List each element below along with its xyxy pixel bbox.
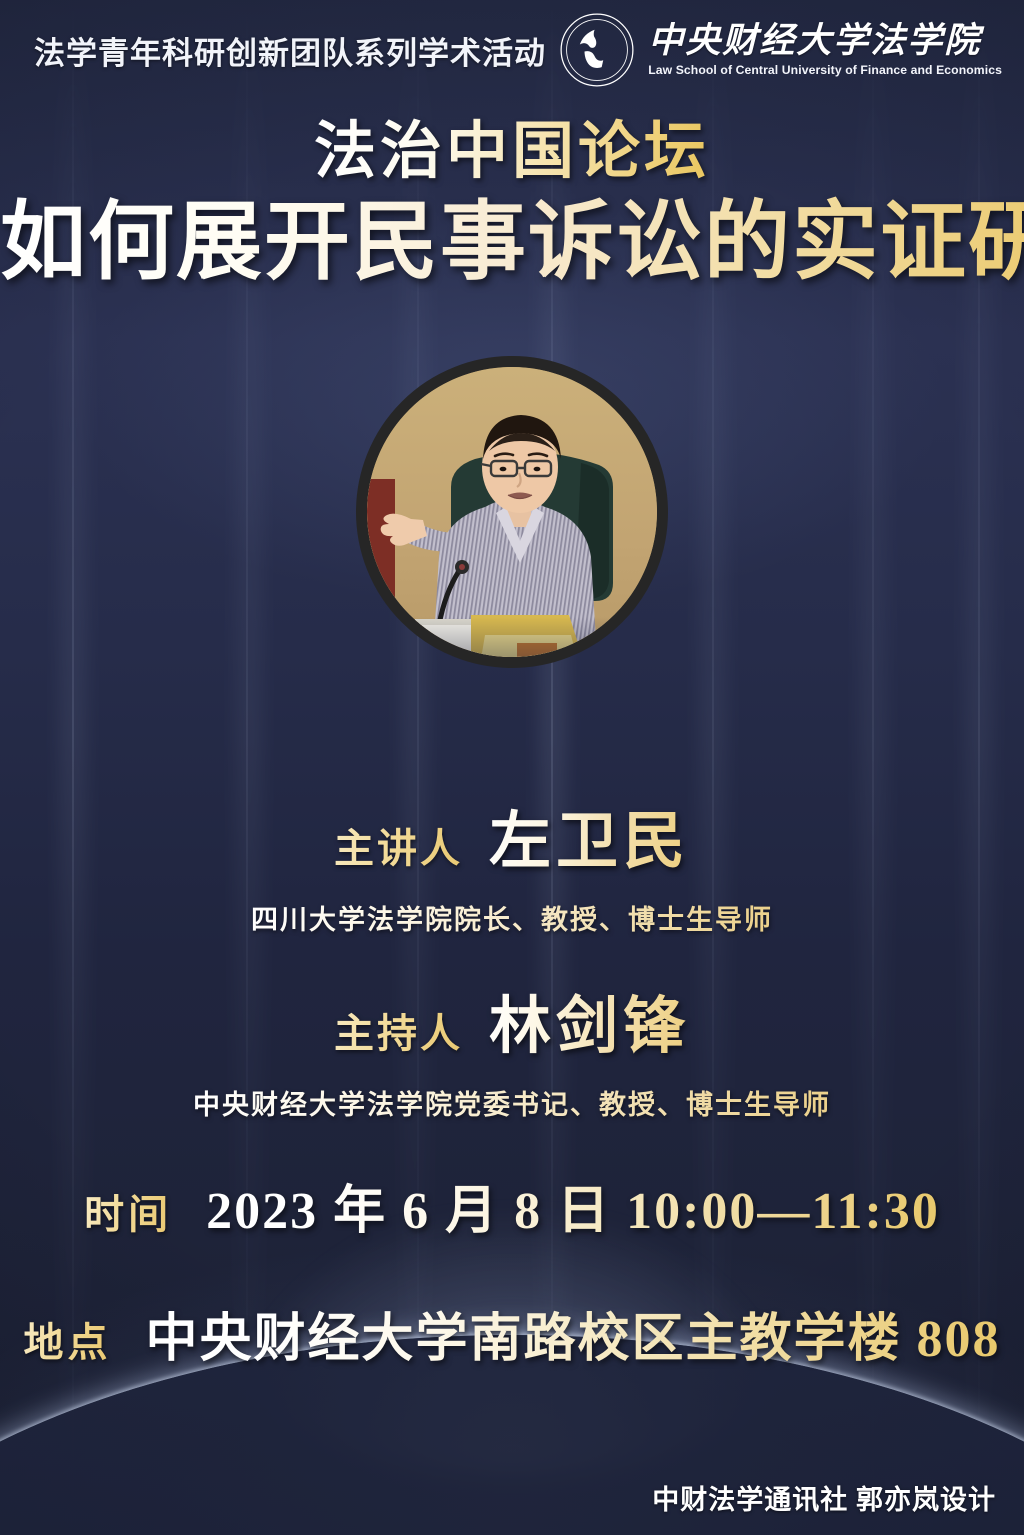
- speaker-description: 四川大学法学院院长、教授、博士生导师: [251, 898, 773, 937]
- speaker-name: 左卫民: [489, 790, 690, 880]
- venue-value: 中央财经大学南路校区主教学楼 808: [145, 1296, 1000, 1371]
- time-row: 时间 2023 年 6 月 8 日 10:00—11:30: [0, 1168, 1024, 1243]
- venue-row: 地点 中央财经大学南路校区主教学楼 808: [0, 1296, 1024, 1371]
- poster-header: 法学青年科研创新团队系列学术活动 中央财经大学法学院 Law School of…: [0, 0, 1024, 100]
- venue-label: 地点: [23, 1310, 111, 1368]
- time-label: 时间: [84, 1182, 172, 1240]
- host-role-label: 主持人: [334, 1001, 463, 1059]
- time-value: 2023 年 6 月 8 日 10:00—11:30: [206, 1168, 940, 1243]
- portrait-ring: [356, 356, 668, 668]
- forum-title: 法治中国论坛: [314, 118, 710, 187]
- speaker-role-label: 主讲人: [334, 816, 463, 874]
- host-name: 林剑锋: [489, 975, 690, 1065]
- university-seal-icon: [558, 11, 636, 89]
- speaker-portrait: [356, 356, 668, 748]
- logo-english-name: Law School of Central University of Fina…: [648, 63, 1002, 77]
- title-block: 法治中国论坛 如何展开民事诉讼的实证研究: [0, 118, 1024, 290]
- event-poster: 法学青年科研创新团队系列学术活动 中央财经大学法学院 Law School of…: [0, 0, 1024, 1535]
- host-description: 中央财经大学法学院党委书记、教授、博士生导师: [193, 1083, 831, 1122]
- speaker-photo: [367, 367, 657, 657]
- host-row: 主持人 林剑锋 中央财经大学法学院党委书记、教授、博士生导师: [0, 975, 1024, 1122]
- school-logo: 中央财经大学法学院 Law School of Central Universi…: [558, 11, 1002, 89]
- lecture-title: 如何展开民事诉讼的实证研究: [0, 195, 1024, 290]
- logo-chinese-name: 中央财经大学法学院: [648, 23, 1002, 60]
- speaker-row: 主讲人 左卫民 四川大学法学院院长、教授、博士生导师: [0, 790, 1024, 937]
- designer-credit: 中财法学通讯社 郭亦岚设计: [652, 1478, 996, 1517]
- series-title: 法学青年科研创新团队系列学术活动: [34, 28, 546, 73]
